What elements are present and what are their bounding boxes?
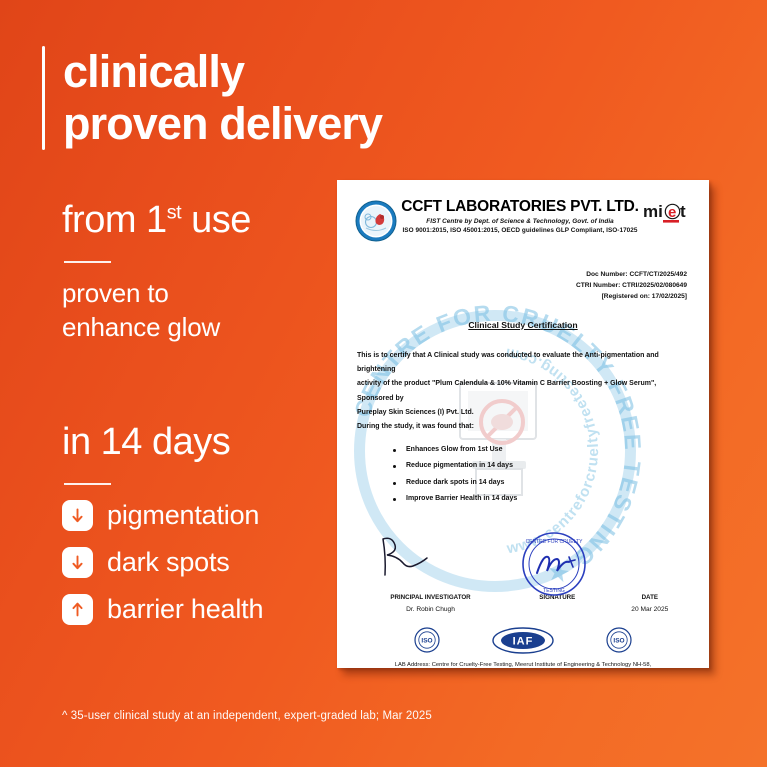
- certificate-subject-title: Clinical Study Certification: [353, 320, 693, 330]
- iso-badge-left-icon: ISO: [414, 627, 440, 653]
- headline-line-2: proven delivery: [63, 98, 382, 150]
- benefit-label: barrier health: [107, 594, 263, 625]
- list-item: Reduce pigmentation in 14 days: [393, 458, 693, 474]
- certificate-footer: ISO IAF ISO LAB Address: Centre for Crue…: [353, 625, 693, 668]
- svg-text:CENTRE FOR CRUELTY: CENTRE FOR CRUELTY: [526, 539, 584, 545]
- claim-first-use-pre: from 1: [62, 199, 167, 241]
- headline-line-1: clinically: [63, 46, 382, 98]
- list-item: barrier health: [62, 593, 263, 627]
- headline-accent-bar: [42, 46, 45, 150]
- benefit-label: pigmentation: [107, 500, 259, 531]
- findings-list: Enhances Glow from 1st Use Reduce pigmen…: [393, 442, 693, 508]
- body-line-1: This is to certify that A Clinical study…: [357, 349, 687, 378]
- claim-first-use-detail-1: proven to: [62, 277, 251, 311]
- body-line-3: Pureplay Skin Sciences (I) Pvt. Ltd.: [357, 406, 687, 420]
- lab-identity: CCFT LABORATORIES PVT. LTD. FIST Centre …: [397, 198, 643, 234]
- principal-investigator-col: PRINCIPAL INVESTIGATOR Dr. Robin Chugh: [353, 594, 508, 613]
- claim-first-use-title: from 1st use: [62, 200, 251, 242]
- ctri-number: CTRI Number: CTRI/2025/02/080649: [353, 281, 687, 292]
- lab-address: LAB Address: Centre for Cruelty-Free Tes…: [353, 660, 693, 668]
- divider-rule-2: [64, 483, 111, 485]
- benefit-list: pigmentation dark spots: [62, 499, 263, 627]
- claim-first-use-detail-2: enhance glow: [62, 311, 251, 345]
- page-title: clinically proven delivery: [63, 46, 382, 150]
- claim-14-days-block: in 14 days pigmentation: [62, 422, 263, 640]
- svg-text:mi: mi: [643, 202, 663, 221]
- date-value: 20 Mar 2025: [607, 606, 693, 613]
- benefit-label: dark spots: [107, 547, 230, 578]
- address-line-1: LAB Address: Centre for Cruelty-Free Tes…: [353, 660, 693, 668]
- svg-text:IAF: IAF: [513, 635, 534, 647]
- certificate-document: CENTRE FOR CRUELTY FREE TESTING ★ www.ce…: [337, 180, 709, 668]
- svg-text:TESTING: TESTING: [543, 588, 565, 594]
- svg-text:e: e: [668, 204, 676, 221]
- list-item: pigmentation: [62, 499, 263, 533]
- svg-text:t: t: [680, 202, 686, 221]
- miet-logo-icon: mi e t: [643, 200, 693, 226]
- svg-text:ISO: ISO: [613, 638, 624, 645]
- doc-number: Doc Number: CCFT/CT/2025/492: [353, 270, 687, 281]
- accreditation-badges: ISO IAF ISO: [353, 625, 693, 655]
- headline-block: clinically proven delivery: [42, 46, 382, 150]
- divider-rule-1: [64, 261, 111, 263]
- lab-name: CCFT LABORATORIES PVT. LTD.: [401, 198, 639, 216]
- lab-accreditation-line-1: FIST Centre by Dept. of Science & Techno…: [401, 218, 639, 225]
- ordinal-suffix: st: [167, 201, 181, 223]
- signature-area: CENTRE FOR CRUELTY TESTING PRINCIPAL INV…: [353, 527, 693, 619]
- authorised-round-stamp-icon: CENTRE FOR CRUELTY TESTING: [521, 531, 587, 597]
- document-meta: Doc Number: CCFT/CT/2025/492 CTRI Number…: [353, 270, 693, 303]
- iso-badge-right-icon: ISO: [606, 627, 632, 653]
- registered-on: [Registered on: 17/02/2025]: [353, 292, 687, 303]
- claim-14-days-title: in 14 days: [62, 422, 263, 464]
- list-item: Improve Barrier Health in 14 days: [393, 491, 693, 507]
- body-line-4: During the study, it was found that:: [357, 420, 687, 434]
- list-item: dark spots: [62, 546, 263, 580]
- svg-text:ISO: ISO: [421, 638, 432, 645]
- claim-first-use-post: use: [181, 199, 251, 241]
- handwritten-signature-icon: [375, 533, 437, 581]
- list-item: Reduce dark spots in 14 days: [393, 475, 693, 491]
- arrow-down-icon: [62, 500, 93, 531]
- arrow-down-icon: [62, 547, 93, 578]
- certificate-body: This is to certify that A Clinical study…: [353, 349, 693, 435]
- list-item: Enhances Glow from 1st Use: [393, 442, 693, 458]
- principal-investigator-label: PRINCIPAL INVESTIGATOR: [353, 594, 508, 601]
- footnote-disclaimer: ^ 35-user clinical study at an independe…: [62, 710, 432, 722]
- arrow-up-icon: [62, 594, 93, 625]
- date-label: DATE: [607, 594, 693, 601]
- date-col: DATE 20 Mar 2025: [607, 594, 693, 613]
- body-line-2: activity of the product "Plum Calendula …: [357, 377, 687, 406]
- lab-accreditation-line-2: ISO 9001:2015, ISO 45001:2015, OECD guid…: [401, 227, 639, 234]
- certificate-header: CCFT LABORATORIES PVT. LTD. FIST Centre …: [353, 198, 693, 256]
- claim-first-use-block: from 1st use proven to enhance glow: [62, 200, 251, 344]
- iaf-badge-icon: IAF: [492, 627, 554, 654]
- circular-lab-seal-icon: [355, 200, 397, 242]
- principal-investigator-name: Dr. Robin Chugh: [353, 606, 508, 613]
